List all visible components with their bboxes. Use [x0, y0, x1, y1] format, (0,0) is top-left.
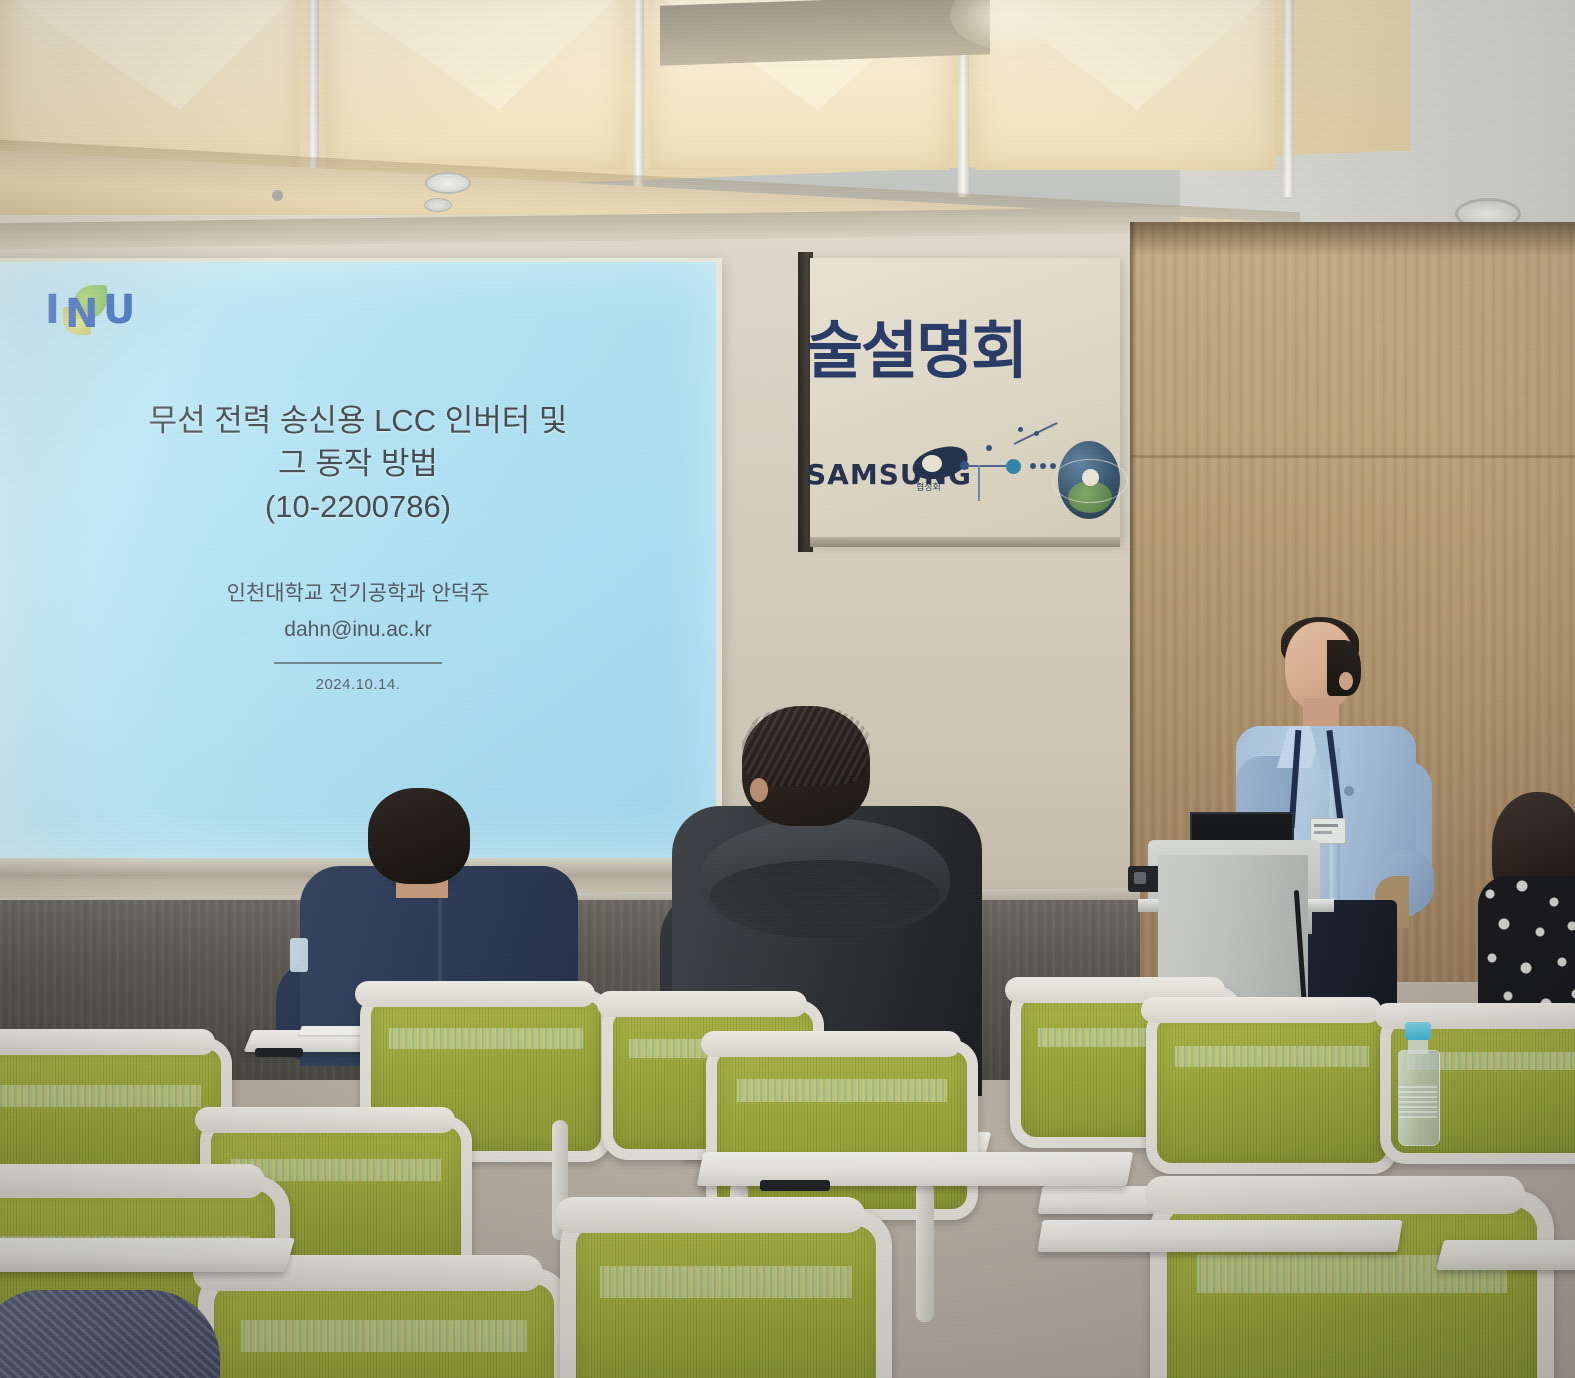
- presenter-ear: [1339, 672, 1353, 690]
- attendee-center-ear: [750, 778, 768, 802]
- sprinkler-head: [272, 190, 283, 201]
- water-bottle: [1396, 1022, 1440, 1144]
- ceiling-shadow-strip: [660, 0, 990, 66]
- presentation-room-photo: I N U 무선 전력 송신용 LCC 인버터 및 그 동작 방법 (10-22…: [0, 0, 1575, 1378]
- screen-glare: [0, 262, 716, 862]
- desk-tablet: [0, 1238, 295, 1272]
- desk-support-arm: [760, 1180, 830, 1191]
- chair-leg: [916, 1182, 934, 1322]
- bottle-label: [1399, 1084, 1437, 1118]
- attendee-center-hood-shadow: [710, 860, 940, 930]
- badge-text-line: [1314, 824, 1338, 827]
- banner-title-text: 술설명회: [806, 300, 1046, 390]
- chair: [1150, 1190, 1520, 1378]
- attendee-center-hair: [742, 706, 870, 786]
- desk-tablet: [1037, 1220, 1402, 1252]
- attendee-left-device: [290, 938, 308, 972]
- globe-center-node: [1082, 469, 1099, 486]
- recessed-downlight: [424, 198, 452, 212]
- association-pupil: [922, 455, 942, 472]
- chair: [1146, 1006, 1376, 1152]
- recessed-downlight: [425, 172, 471, 194]
- desk-support-arm: [255, 1048, 303, 1057]
- bottle-cap: [1405, 1022, 1431, 1040]
- wood-wall-top-shadow: [1130, 222, 1575, 256]
- wood-wall-seam: [1130, 455, 1575, 458]
- desk-tablet: [1436, 1240, 1575, 1270]
- attendee-left-head: [368, 788, 470, 884]
- association-label: 협성회: [916, 480, 941, 493]
- banner-bottom-edge: [810, 537, 1120, 547]
- podium-control-button: [1134, 872, 1146, 884]
- network-globe-graphic: [960, 425, 1125, 535]
- badge-text-line: [1314, 831, 1332, 834]
- presenter-shirt-emblem: [1344, 786, 1354, 796]
- chair: [560, 1210, 860, 1378]
- desk-paper: [298, 1026, 366, 1035]
- foreground-knit-garment: [0, 1290, 220, 1378]
- chair: [198, 1268, 538, 1378]
